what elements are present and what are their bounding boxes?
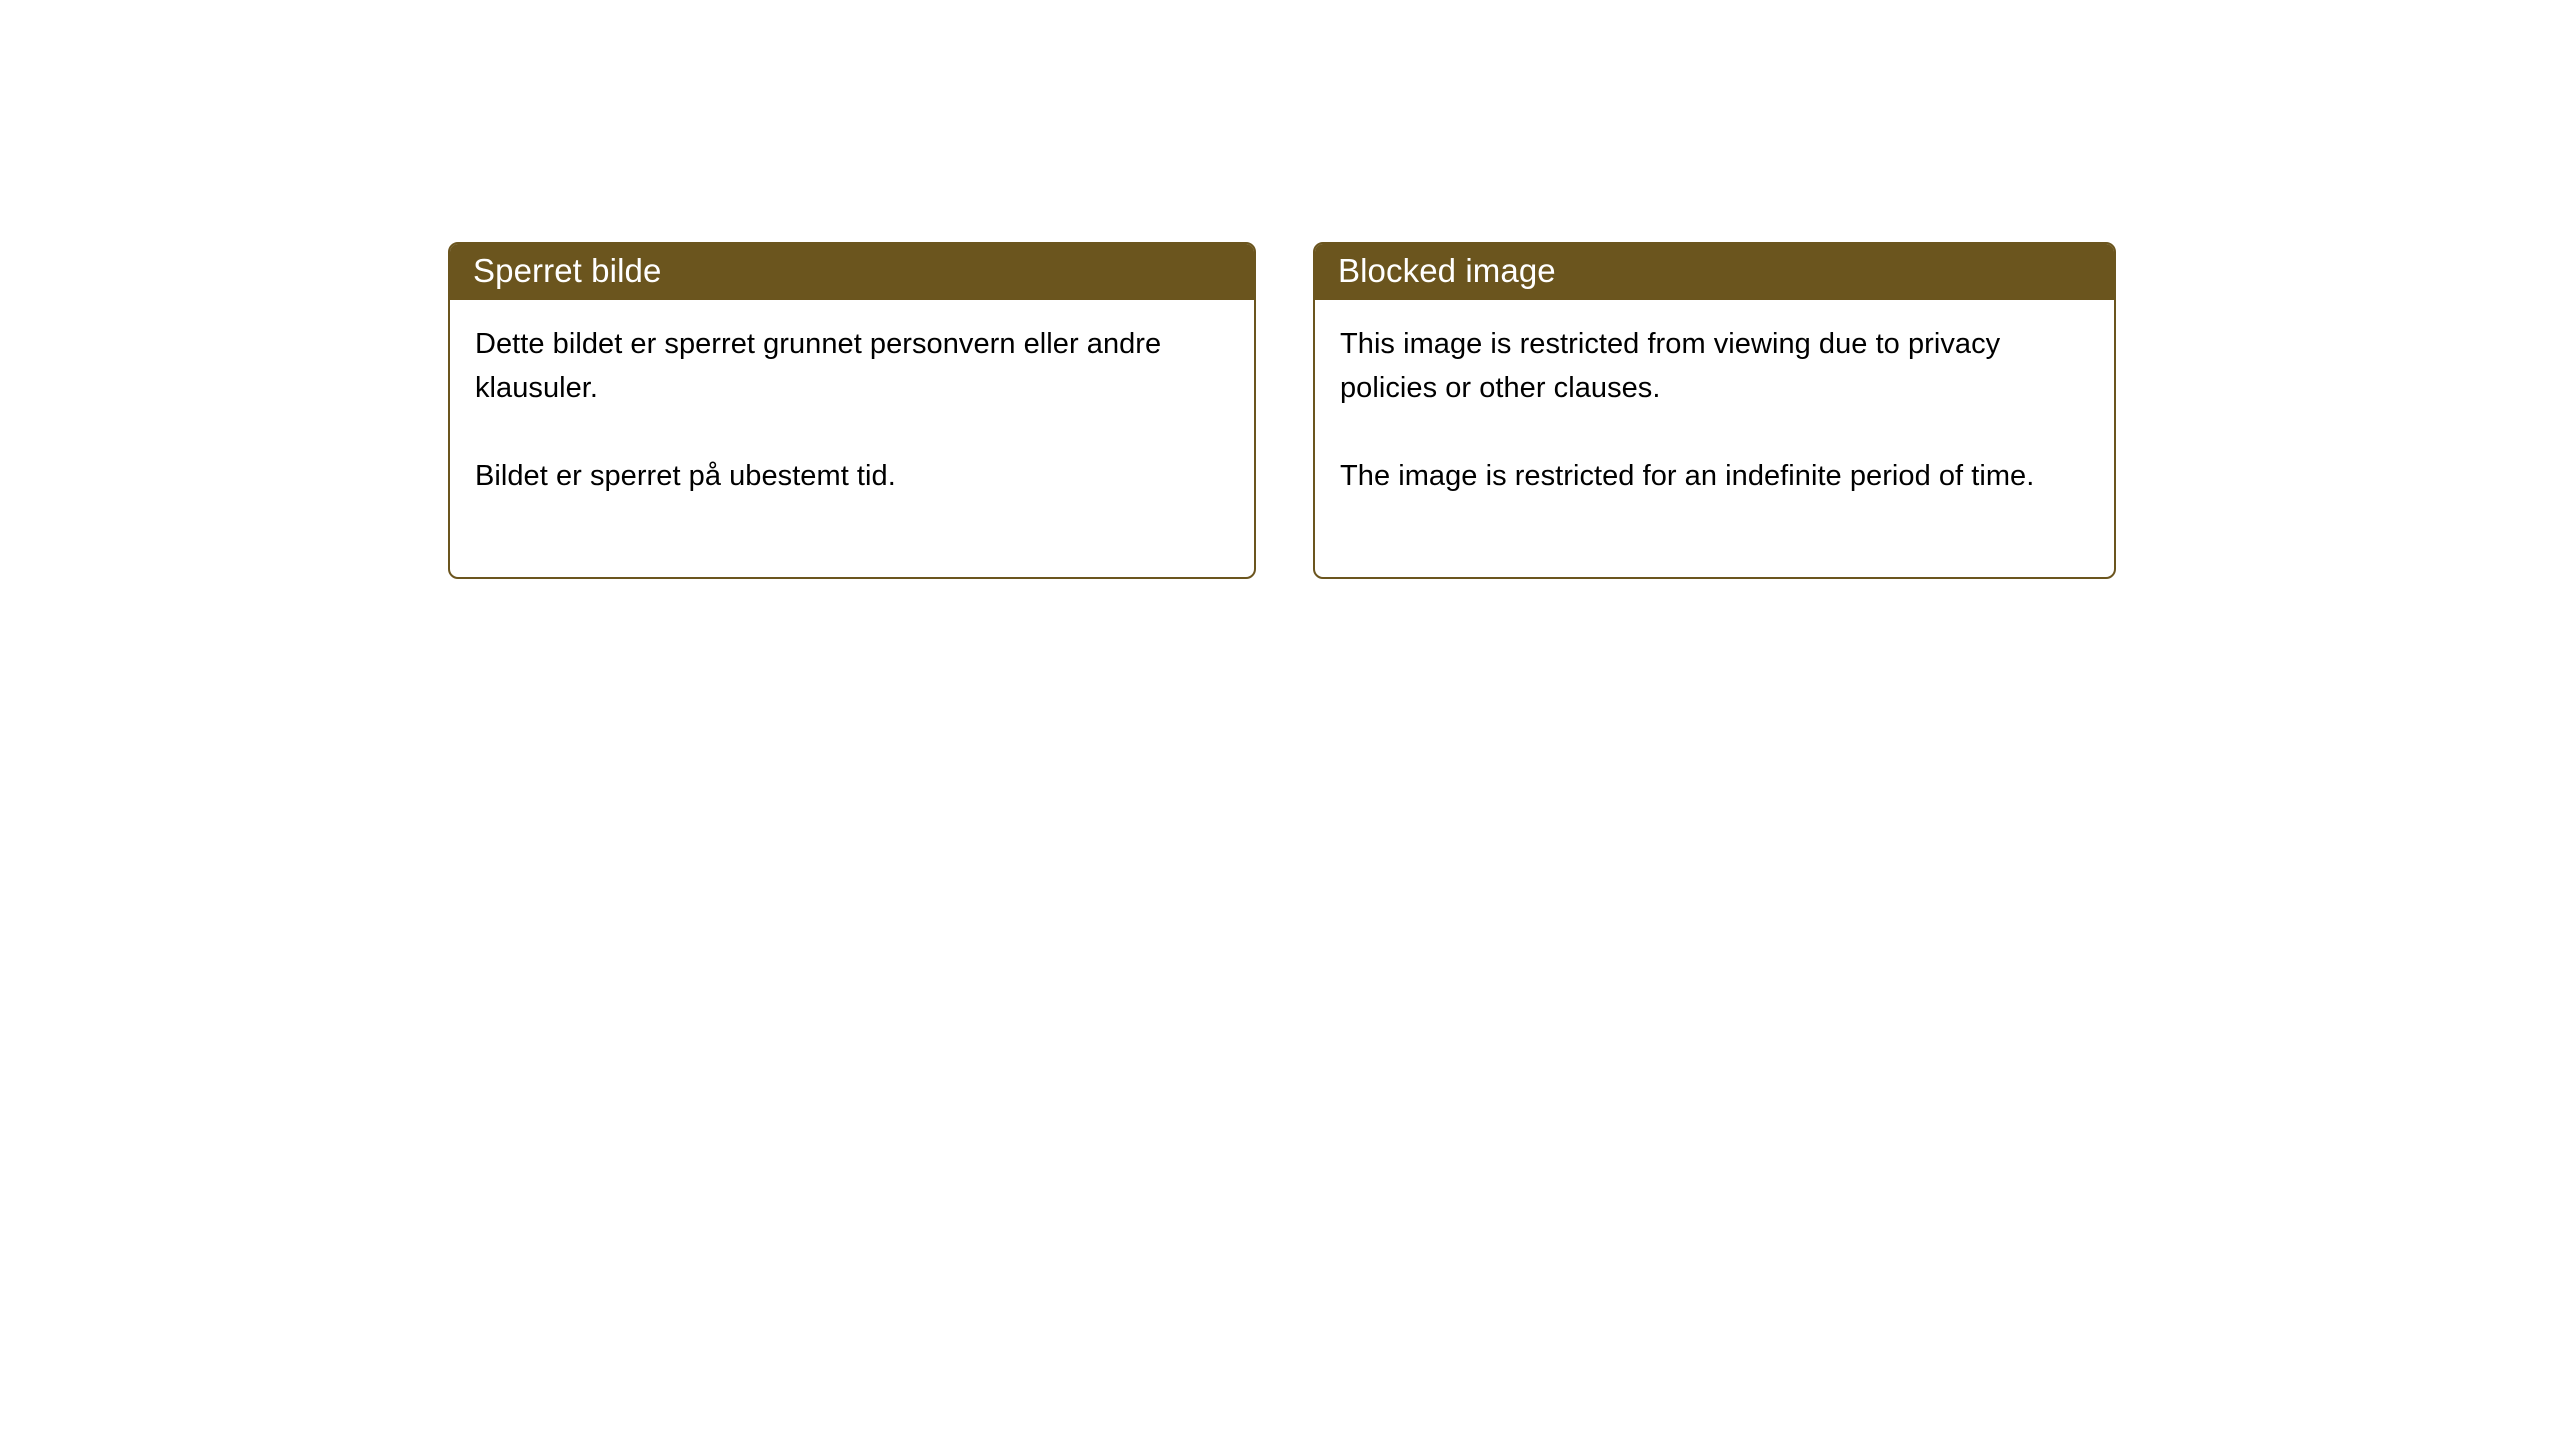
blocked-image-panel-english: Blocked image This image is restricted f… <box>1313 242 2116 579</box>
panel-paragraph-secondary-english: The image is restricted for an indefinit… <box>1340 454 2090 498</box>
paragraph-spacer <box>475 410 1230 454</box>
page-canvas: Sperret bilde Dette bildet er sperret gr… <box>0 0 2560 1440</box>
panel-paragraph-primary-english: This image is restricted from viewing du… <box>1340 322 2090 410</box>
panel-paragraph-primary-norwegian: Dette bildet er sperret grunnet personve… <box>475 322 1230 410</box>
panel-header-norwegian: Sperret bilde <box>448 242 1256 300</box>
panel-body-english: This image is restricted from viewing du… <box>1315 300 2114 498</box>
panel-body-norwegian: Dette bildet er sperret grunnet personve… <box>450 300 1254 498</box>
panel-title-english: Blocked image <box>1338 253 1556 289</box>
paragraph-spacer <box>1340 410 2090 454</box>
panel-title-norwegian: Sperret bilde <box>473 253 661 289</box>
panel-header-english: Blocked image <box>1313 242 2116 300</box>
blocked-image-panel-norwegian: Sperret bilde Dette bildet er sperret gr… <box>448 242 1256 579</box>
panel-paragraph-secondary-norwegian: Bildet er sperret på ubestemt tid. <box>475 454 1230 498</box>
